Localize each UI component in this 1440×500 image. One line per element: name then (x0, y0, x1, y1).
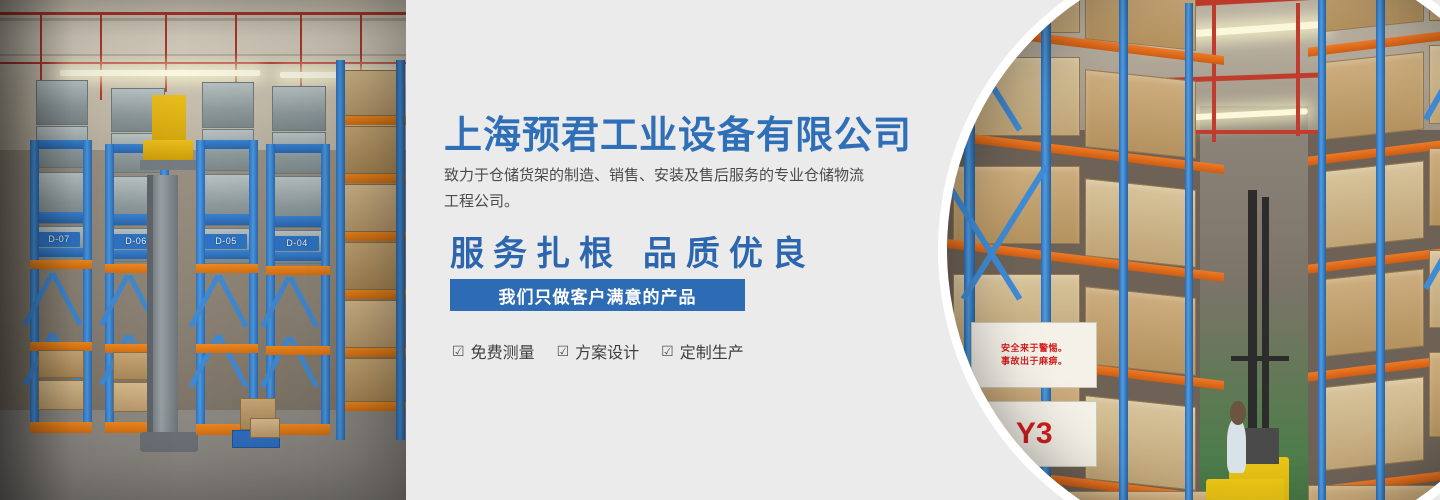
warehouse-photo-right-circle: 安全来于警惕。 事故出于麻痹。 Y3 Y3 (938, 0, 1440, 500)
feature-label: 免费测量 (471, 339, 535, 363)
banner-slogan: 服务扎根 品质优良 (450, 226, 815, 275)
company-subtitle: 致力于仓储货架的制造、销售、安装及售后服务的专业仓储物流工程公司。 (444, 163, 869, 215)
cta-banner-button[interactable]: 我们只做客户满意的产品 (450, 279, 745, 311)
feature-item: ☑ 方案设计 (557, 339, 640, 363)
promo-banner: D-07 D-06 (0, 0, 1440, 500)
feature-list: ☑ 免费测量 ☑ 方案设计 ☑ 定制生产 (452, 339, 744, 363)
company-headline: 上海预君工业设备有限公司 (444, 104, 912, 159)
feature-item: ☑ 免费测量 (452, 339, 535, 363)
check-icon: ☑ (557, 344, 570, 358)
feature-label: 方案设计 (575, 339, 639, 363)
circle-photo: 安全来于警惕。 事故出于麻痹。 Y3 Y3 (947, 0, 1440, 500)
check-icon: ☑ (452, 344, 465, 358)
banner-text-panel: 上海预君工业设备有限公司 致力于仓储货架的制造、销售、安装及售后服务的专业仓储物… (406, 0, 966, 500)
warehouse-photo-left: D-07 D-06 (0, 0, 406, 500)
check-icon: ☑ (661, 344, 674, 358)
feature-label: 定制生产 (680, 339, 744, 363)
feature-item: ☑ 定制生产 (661, 339, 744, 363)
